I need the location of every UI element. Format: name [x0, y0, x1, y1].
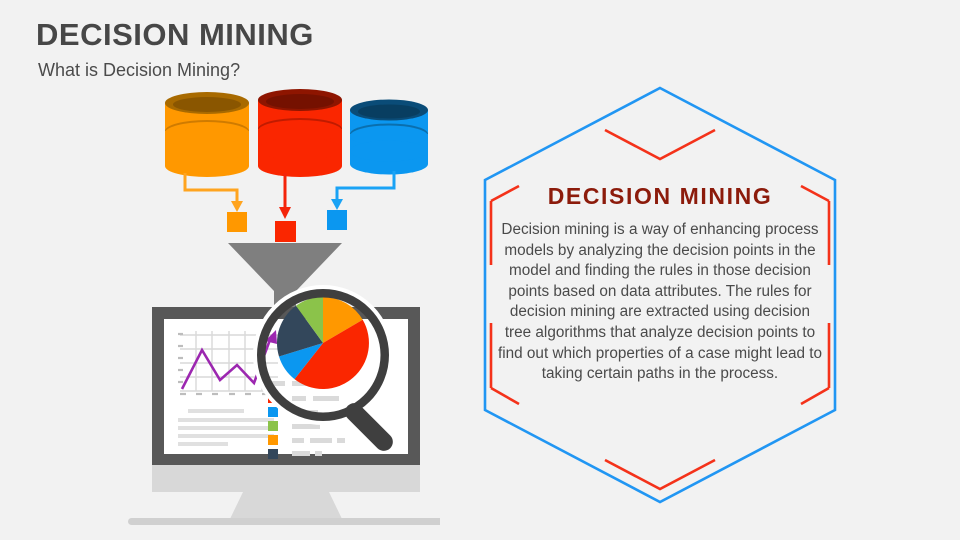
chip-orange	[227, 212, 247, 232]
connector-blue	[337, 171, 394, 201]
hexagon-text-block: DECISION MINING Decision mining is a way…	[495, 183, 825, 385]
database-orange	[165, 92, 249, 177]
connector-orange-arrowhead	[231, 201, 243, 212]
slide-canvas: DECISION MINING What is Decision Mining?	[0, 0, 960, 540]
database-blue	[350, 100, 428, 175]
connector-blue-arrowhead	[331, 199, 343, 210]
hexagon-callout: DECISION MINING Decision mining is a way…	[455, 80, 865, 510]
database-red	[258, 89, 342, 177]
monitor-stand	[229, 492, 343, 521]
monitor-base	[128, 518, 440, 525]
chip-red	[275, 221, 296, 242]
hexagon-body-text: Decision mining is a way of enhancing pr…	[495, 220, 825, 385]
chip-blue	[327, 210, 347, 230]
data-mining-illustration	[110, 85, 440, 525]
connector-red-arrowhead	[279, 207, 291, 219]
page-title: DECISION MINING	[36, 17, 314, 53]
hexagon-heading: DECISION MINING	[495, 183, 825, 210]
page-subtitle: What is Decision Mining?	[38, 60, 240, 81]
connector-orange	[185, 173, 237, 203]
